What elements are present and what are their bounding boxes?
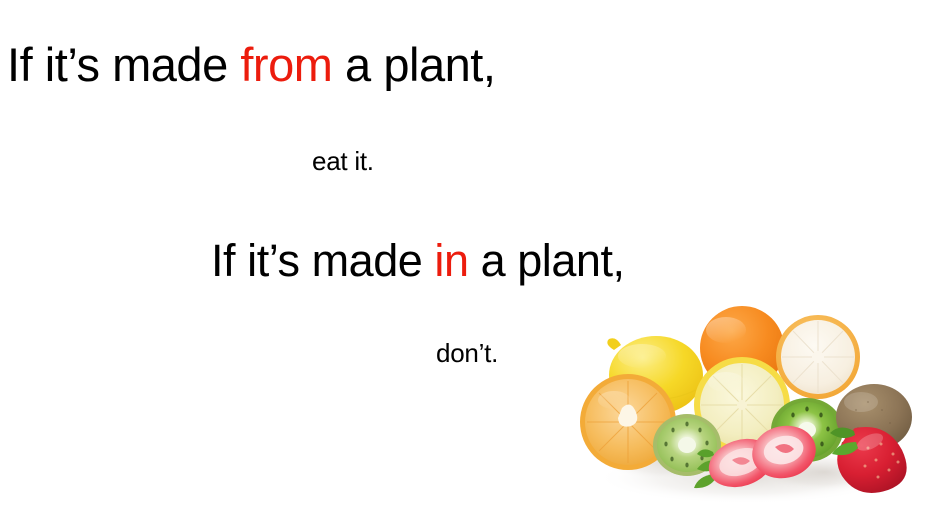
slide-canvas: If it’s made from a plant, eat it. If it…	[0, 0, 945, 528]
fruit-illustration	[556, 282, 926, 514]
grapefruit-half-icon	[776, 315, 860, 399]
headline-line-3: If it’s made in a plant,	[211, 234, 625, 288]
headline-line-3-text-b: a plant,	[469, 235, 625, 286]
headline-line-1-text-a: If it’s made	[7, 38, 240, 91]
headline-line-3-highlight: in	[434, 235, 468, 286]
headline-line-1: If it’s made from a plant,	[7, 37, 495, 93]
headline-line-2: eat it.	[312, 145, 374, 177]
headline-line-3-text-a: If it’s made	[211, 235, 434, 286]
headline-line-1-text-b: a plant,	[332, 38, 495, 91]
assorted-fruit-image	[556, 282, 926, 514]
headline-line-1-highlight: from	[240, 38, 332, 91]
headline-line-4: don’t.	[436, 337, 498, 369]
